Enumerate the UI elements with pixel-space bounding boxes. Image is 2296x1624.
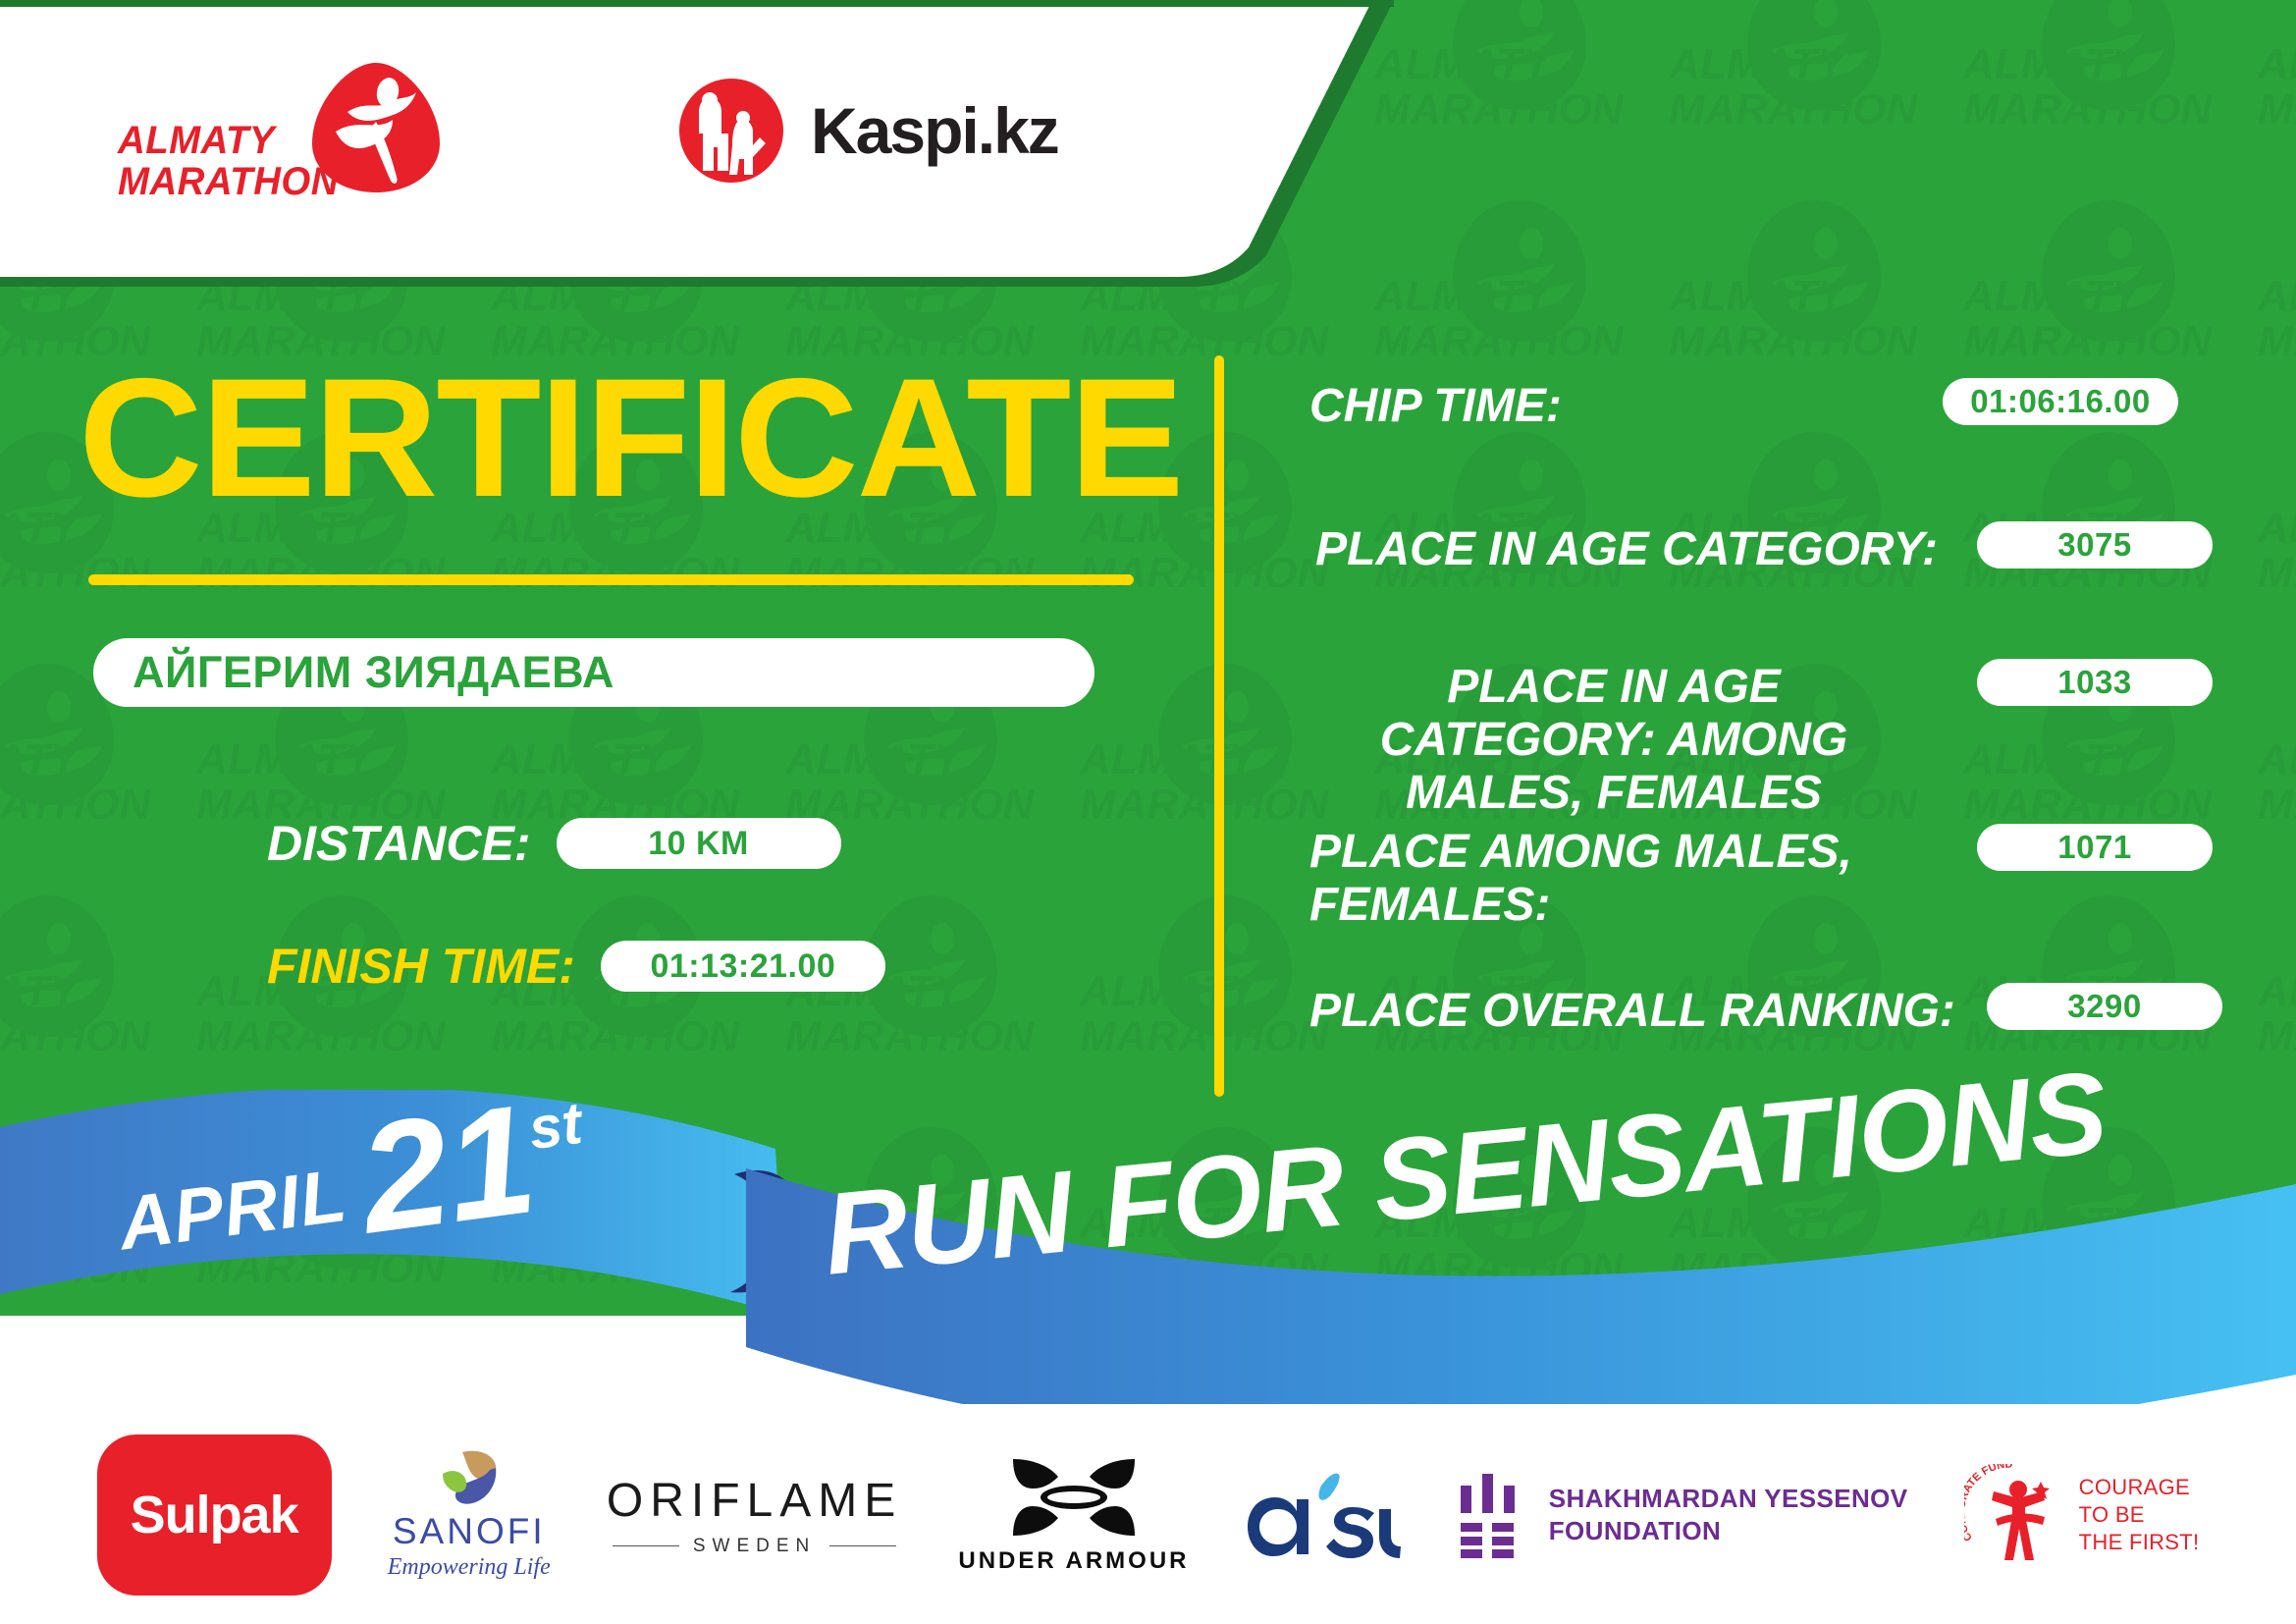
place-among-gender-label: PLACE AMONG MALES, FEMALES: bbox=[1309, 826, 1859, 932]
event-day-suffix: st bbox=[525, 1089, 586, 1163]
title-underline bbox=[88, 574, 1134, 585]
field-distance: DISTANCE: 10 KM bbox=[267, 815, 841, 872]
place-overall-label: PLACE OVERALL RANKING: bbox=[1309, 985, 1997, 1038]
place-overall-value: 3290 bbox=[2067, 988, 2141, 1025]
certificate-left-panel: CERTIFICATE АЙГЕРИМ ЗИЯДАЕВА DISTANCE: 1… bbox=[0, 324, 1168, 1110]
sponsor-asu bbox=[1246, 1446, 1403, 1584]
yessenov-foundation-logo-icon bbox=[1459, 1472, 1527, 1558]
place-among-gender-value: 1071 bbox=[2057, 829, 2131, 866]
chip-time-label: CHIP TIME: bbox=[1309, 380, 1938, 433]
yessenov-line-2: FOUNDATION bbox=[1549, 1515, 1908, 1547]
finish-time-value: 01:13:21.00 bbox=[650, 947, 835, 986]
distance-value: 10 KM bbox=[648, 825, 749, 863]
oriflame-country: SWEDEN bbox=[693, 1536, 816, 1557]
courage-fund-wordmark: COURAGE TO BE THE FIRST! bbox=[2079, 1474, 2200, 1556]
place-age-category-value: 3075 bbox=[2057, 526, 2131, 564]
sponsor-sanofi: SANOFI Empowering Life bbox=[388, 1446, 551, 1584]
asu-logo-icon bbox=[1246, 1470, 1403, 1560]
sulpak-wordmark: Sulpak bbox=[131, 1485, 298, 1545]
page-title: CERTIFICATE bbox=[79, 353, 1182, 522]
place-overall-value-pill: 3290 bbox=[1987, 983, 2222, 1030]
finish-time-value-pill: 01:13:21.00 bbox=[601, 941, 885, 992]
runner-drop-icon bbox=[310, 61, 442, 194]
courage-line-2: TO BE bbox=[2079, 1501, 2200, 1529]
place-age-category-gender-label: PLACE IN AGE CATEGORY: AMONG MALES, FEMA… bbox=[1309, 661, 1918, 820]
sponsor-yessenov-foundation: SHAKHMARDAN YESSENOV FOUNDATION bbox=[1459, 1446, 1908, 1584]
participant-name-field: АЙГЕРИМ ЗИЯДАЕВА bbox=[93, 638, 1095, 707]
yessenov-line-1: SHAKHMARDAN YESSENOV bbox=[1549, 1483, 1908, 1515]
sponsor-sulpak: Sulpak bbox=[97, 1435, 332, 1596]
place-age-category-gender-value: 1033 bbox=[2057, 664, 2131, 701]
kaspi-logo: Kaspi.kz bbox=[677, 77, 1058, 185]
participant-name: АЙГЕРИМ ЗИЯДАЕВА bbox=[93, 647, 614, 698]
distance-label: DISTANCE: bbox=[267, 815, 531, 872]
field-finish-time: FINISH TIME: 01:13:21.00 bbox=[267, 938, 885, 995]
under-armour-wordmark: UNDER ARMOUR bbox=[958, 1547, 1189, 1575]
place-age-category-value-pill: 3075 bbox=[1977, 521, 2213, 568]
result-row-chip-time: CHIP TIME: 01:06:16.00 bbox=[1309, 380, 2222, 433]
kaspi-wordmark: Kaspi.kz bbox=[811, 93, 1058, 168]
chip-time-value-pill: 01:06:16.00 bbox=[1943, 378, 2178, 425]
certificate-page: ALMATY MARATHON ALMATY MARATHON bbox=[0, 0, 2296, 1624]
place-among-gender-value-pill: 1071 bbox=[1977, 824, 2213, 871]
result-row-place-overall: PLACE OVERALL RANKING: 3290 bbox=[1309, 985, 2222, 1038]
result-row-place-among-gender: PLACE AMONG MALES, FEMALES: 1071 bbox=[1309, 826, 2222, 932]
yessenov-foundation-wordmark: SHAKHMARDAN YESSENOV FOUNDATION bbox=[1549, 1483, 1908, 1547]
under-armour-logo-icon bbox=[1005, 1455, 1143, 1540]
result-row-place-age-category: PLACE IN AGE CATEGORY: 3075 bbox=[1309, 523, 2222, 576]
place-age-category-gender-value-pill: 1033 bbox=[1977, 659, 2213, 706]
finish-time-label: FINISH TIME: bbox=[267, 938, 575, 995]
chip-time-value: 01:06:16.00 bbox=[1970, 383, 2150, 420]
oriflame-subline: SWEDEN bbox=[613, 1536, 896, 1557]
column-divider bbox=[1214, 355, 1224, 1097]
courage-fund-logo-icon: CORPORATE FUND bbox=[1964, 1464, 2067, 1567]
oriflame-rule-right bbox=[829, 1545, 896, 1547]
courage-line-3: THE FIRST! bbox=[2079, 1529, 2200, 1556]
oriflame-rule-left bbox=[613, 1545, 679, 1547]
almaty-marathon-logo: ALMATY MARATHON bbox=[118, 61, 442, 218]
distance-value-pill: 10 KM bbox=[557, 818, 841, 869]
oriflame-wordmark: ORIFLAME bbox=[607, 1474, 902, 1528]
sanofi-logo-icon bbox=[439, 1450, 500, 1507]
sanofi-wordmark: SANOFI bbox=[393, 1511, 546, 1552]
sponsor-under-armour: UNDER ARMOUR bbox=[958, 1446, 1189, 1584]
sponsor-oriflame: ORIFLAME SWEDEN bbox=[607, 1446, 902, 1584]
sanofi-tagline: Empowering Life bbox=[388, 1554, 551, 1581]
sponsor-bar: Sulpak SANOFI Empowering Life ORIFLAME S… bbox=[0, 1406, 2296, 1624]
result-row-place-age-category-gender: PLACE IN AGE CATEGORY: AMONG MALES, FEMA… bbox=[1309, 661, 2222, 820]
courage-line-1: COURAGE bbox=[2079, 1474, 2200, 1501]
sponsor-courage-fund: CORPORATE FUND COURAGE TO BE THE FIRST! bbox=[1964, 1446, 2200, 1584]
kaspi-family-icon bbox=[677, 77, 785, 185]
event-day: 21 bbox=[353, 1090, 543, 1249]
place-age-category-label: PLACE IN AGE CATEGORY: bbox=[1309, 523, 1938, 576]
